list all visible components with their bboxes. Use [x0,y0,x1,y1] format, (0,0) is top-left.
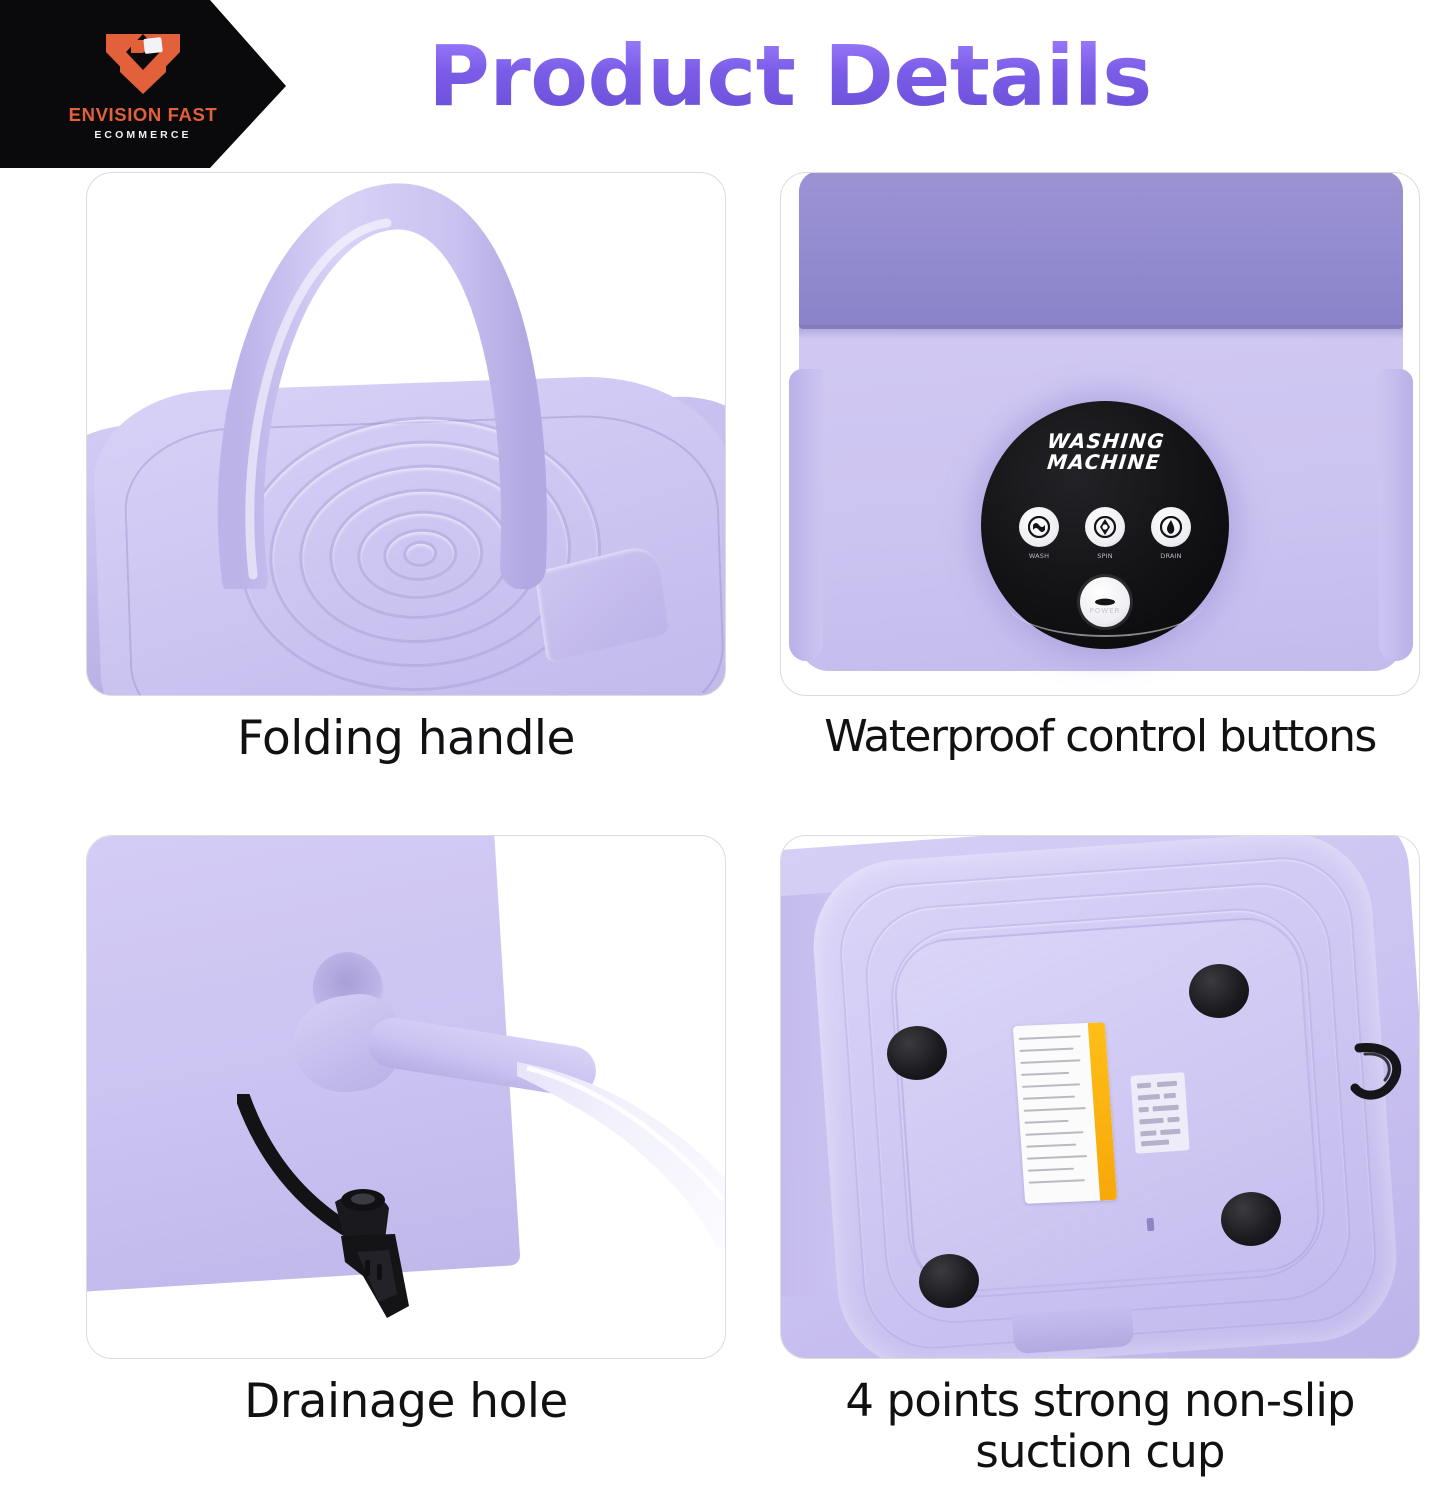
machine-base-foot [1012,1306,1134,1354]
water-stream-icon [517,1050,726,1250]
product-photo-suction-cup [780,835,1420,1359]
power-button-label: POWER [981,607,1229,615]
chevron-logo-icon [100,28,186,102]
detail-caption-suction-cup: 4 points strong non-slip suction cup [780,1375,1420,1478]
control-panel-brand: WASHING MACHINE [979,431,1231,473]
control-panel[interactable]: WASHING MACHINE WASH [981,401,1229,649]
wash-mode-icon [1028,516,1050,538]
base-screw [1147,1218,1155,1231]
detail-caption-suction-cup-line1: 4 points strong non-slip [780,1375,1420,1426]
spin-mode-button[interactable]: SPIN [1085,507,1125,547]
brand-tagline: ECOMMERCE [94,130,191,141]
brand-name: ENVISION FAST [69,106,218,125]
detail-caption-drainage-hole: Drainage hole [86,1375,726,1429]
spin-mode-label: SPIN [1073,553,1137,560]
rating-label [1013,1022,1117,1204]
drain-mode-label: DRAIN [1139,553,1203,560]
detail-card-suction-cup: 4 points strong non-slip suction cup [780,835,1428,1478]
drain-mode-button[interactable]: DRAIN [1151,507,1191,547]
detail-caption-control-buttons: Waterproof control buttons [780,712,1420,762]
drain-plug-cap-icon [237,1094,497,1324]
power-cord-strap-icon [1347,1040,1413,1116]
machine-top-lid [799,172,1403,329]
control-panel-brand-line2: MACHINE [979,452,1229,473]
control-button-row: WASH SPIN [981,507,1229,547]
spin-mode-icon [1094,516,1116,538]
detail-card-folding-handle: Folding handle [86,172,734,766]
power-button[interactable] [1080,577,1130,627]
page-title: Product Details [290,34,1290,118]
machine-side-left [789,369,823,661]
detail-caption-folding-handle: Folding handle [86,712,726,766]
control-panel-brand-line1: WASHING [981,431,1231,452]
detail-caption-suction-cup-line2: suction cup [780,1426,1420,1477]
wash-mode-label: WASH [1007,553,1071,560]
product-photo-folding-handle [86,172,726,696]
brand-banner: ENVISION FAST ECOMMERCE [0,0,286,168]
drain-mode-icon [1160,516,1182,538]
folding-handle-icon [193,172,593,589]
page-header: ENVISION FAST ECOMMERCE Product Details [0,0,1436,170]
detail-card-drainage-hole: Drainage hole [86,835,734,1429]
product-photo-control-buttons: WASHING MACHINE WASH [780,172,1420,696]
detail-card-control-buttons: WASHING MACHINE WASH [780,172,1428,762]
wash-mode-button[interactable]: WASH [1019,507,1059,547]
product-details-grid: Folding handle WASHING MACHINE [0,170,1436,1500]
product-photo-drainage-hole [86,835,726,1359]
machine-side-right [1379,369,1413,661]
lid-shadow [799,325,1403,339]
qr-code-patch [1130,1072,1189,1154]
